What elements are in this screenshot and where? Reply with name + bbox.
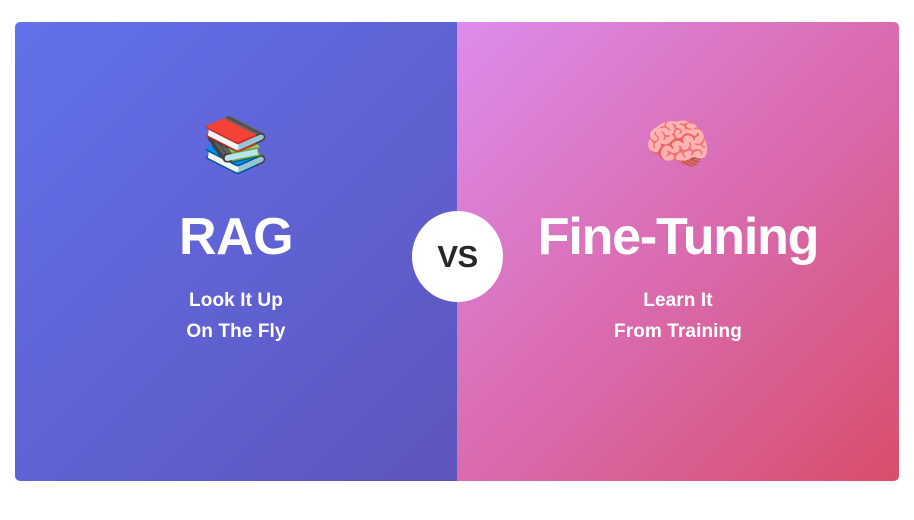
panel-rag: 📚 RAG Look It Up On The Fly <box>15 22 457 481</box>
panel-fine-tuning-subtitle-line-2: From Training <box>614 316 742 347</box>
panel-rag-title: RAG <box>179 211 293 263</box>
books-emoji: 📚 <box>202 115 269 175</box>
comparison-slide: 📚 RAG Look It Up On The Fly 🧠 Fine-Tunin… <box>0 0 914 520</box>
versus-badge: VS <box>412 211 503 302</box>
versus-badge-label: VS <box>437 241 477 272</box>
panel-rag-subtitle: Look It Up On The Fly <box>186 285 285 347</box>
panel-fine-tuning-title: Fine-Tuning <box>538 211 818 263</box>
panel-rag-subtitle-line-1: Look It Up <box>186 285 285 316</box>
panel-fine-tuning-subtitle-line-1: Learn It <box>614 285 742 316</box>
panel-rag-subtitle-line-2: On The Fly <box>186 316 285 347</box>
panel-fine-tuning-subtitle: Learn It From Training <box>614 285 742 347</box>
panel-fine-tuning: 🧠 Fine-Tuning Learn It From Training <box>457 22 899 481</box>
brain-emoji: 🧠 <box>644 115 711 175</box>
